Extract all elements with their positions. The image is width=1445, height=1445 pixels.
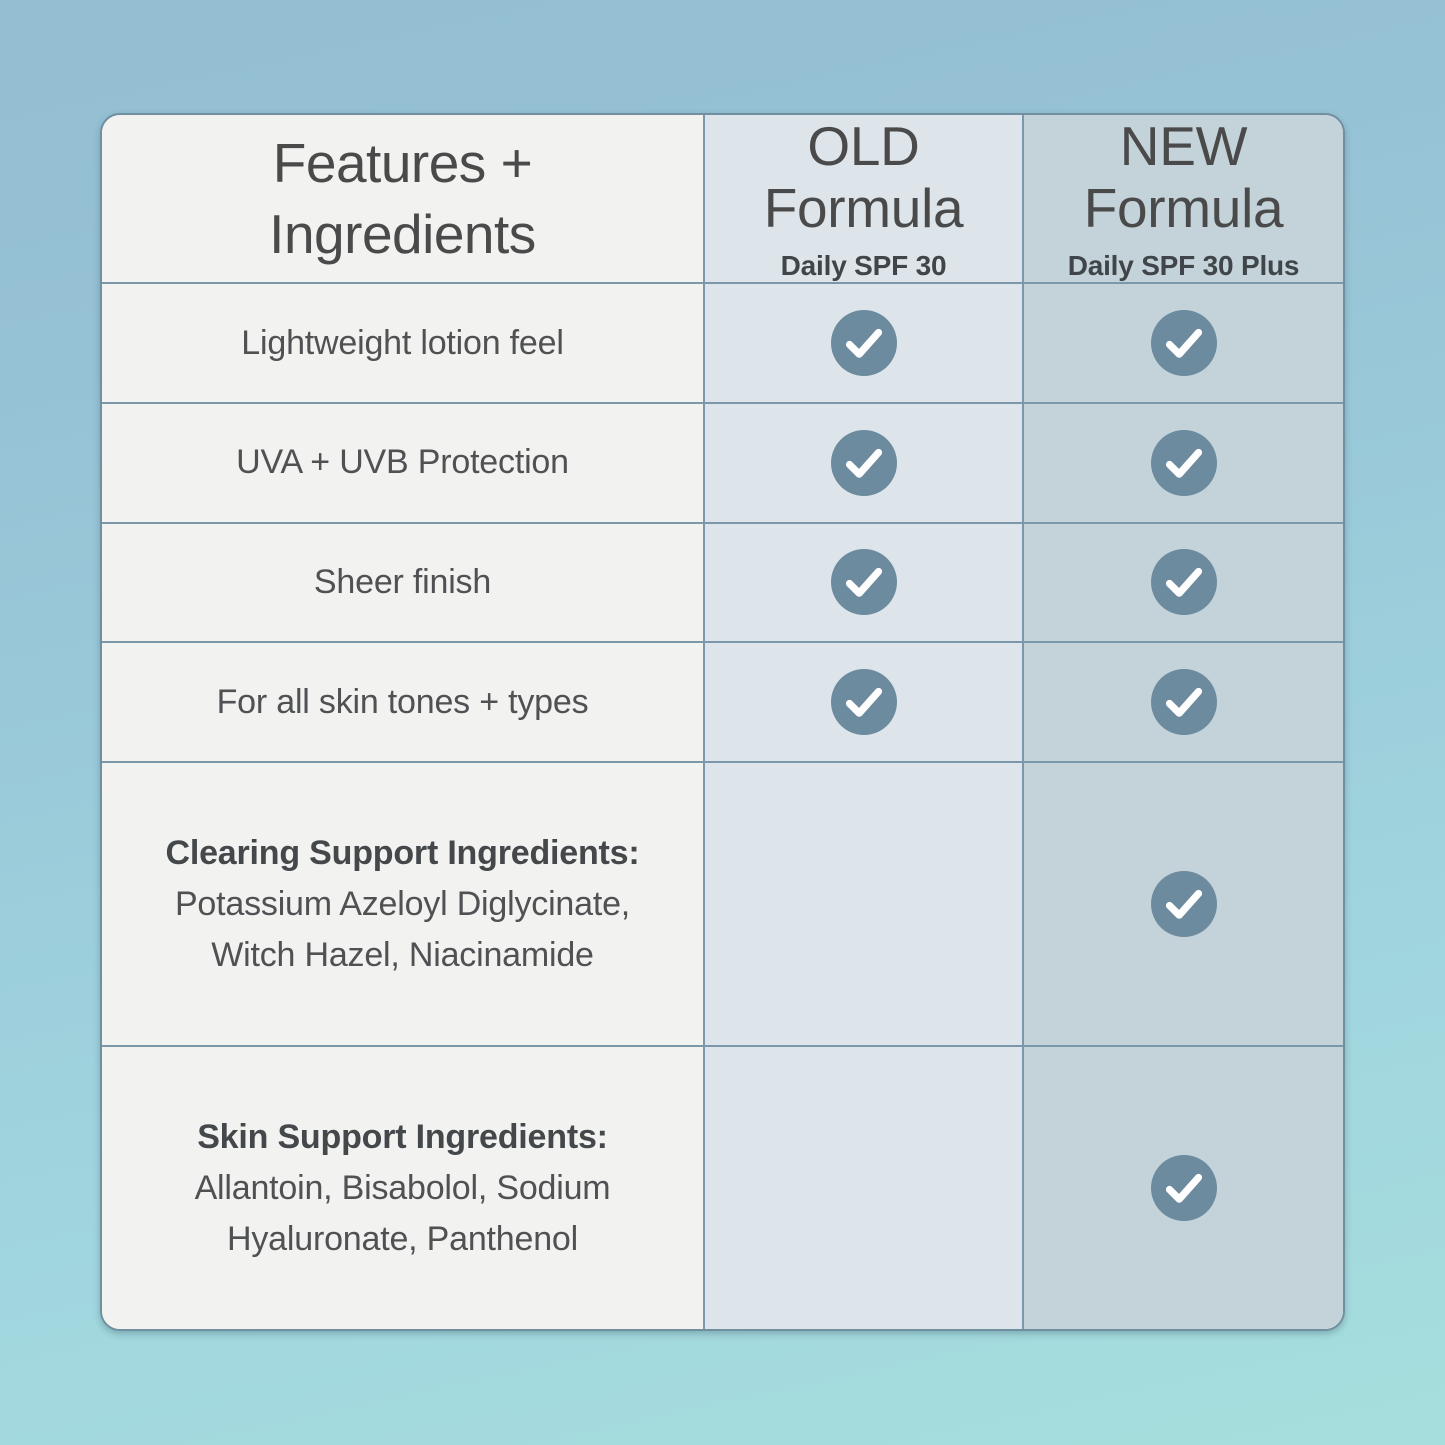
check-circle-icon — [1151, 669, 1217, 735]
old-formula-cell — [704, 283, 1023, 403]
table-body: Lightweight lotion feelUVA + UVB Protect… — [102, 283, 1343, 1329]
header-new-title-line2: Formula — [1038, 177, 1329, 239]
feature-label: Sheer finish — [314, 563, 491, 601]
feature-cell: For all skin tones + types — [102, 642, 704, 762]
header-features-line2: Ingredients — [269, 203, 536, 265]
feature-label: Lightweight lotion feel — [241, 324, 563, 362]
new-formula-cell — [1023, 762, 1343, 1046]
check-circle-icon — [831, 549, 897, 615]
new-formula-cell — [1023, 523, 1343, 643]
feature-label-bold: Skin Support Ingredients: — [197, 1118, 608, 1156]
table-row: Sheer finish — [102, 523, 1343, 643]
header-features-ingredients: Features + Ingredients — [102, 115, 704, 283]
old-formula-cell-empty — [704, 762, 1023, 1046]
check-circle-icon — [1151, 871, 1217, 937]
table-row: For all skin tones + types — [102, 642, 1343, 762]
header-old-formula: OLD Formula Daily SPF 30 — [704, 115, 1023, 283]
check-circle-icon — [831, 430, 897, 496]
old-formula-cell — [704, 523, 1023, 643]
header-old-title-line2: Formula — [719, 177, 1008, 239]
table-row: Lightweight lotion feel — [102, 283, 1343, 403]
feature-cell: UVA + UVB Protection — [102, 403, 704, 523]
check-circle-icon — [1151, 1155, 1217, 1221]
new-formula-cell — [1023, 283, 1343, 403]
feature-label-rest: Potassium Azeloyl Diglycinate, Witch Haz… — [175, 885, 630, 974]
feature-label: UVA + UVB Protection — [236, 443, 569, 481]
feature-label: For all skin tones + types — [217, 683, 589, 721]
header-new-title-line1: NEW — [1038, 115, 1329, 177]
feature-label-rest: Allantoin, Bisabolol, Sodium Hyaluronate… — [195, 1169, 611, 1258]
new-formula-cell — [1023, 642, 1343, 762]
feature-cell: Skin Support Ingredients: Allantoin, Bis… — [102, 1046, 704, 1329]
check-circle-icon — [831, 669, 897, 735]
header-old-title-line1: OLD — [719, 115, 1008, 177]
new-formula-cell — [1023, 1046, 1343, 1329]
header-row: Features + Ingredients OLD Formula Daily… — [102, 115, 1343, 283]
feature-cell: Sheer finish — [102, 523, 704, 643]
feature-cell: Clearing Support Ingredients: Potassium … — [102, 762, 704, 1046]
check-circle-icon — [1151, 430, 1217, 496]
check-circle-icon — [831, 310, 897, 376]
new-formula-cell — [1023, 403, 1343, 523]
table-row: Skin Support Ingredients: Allantoin, Bis… — [102, 1046, 1343, 1329]
check-circle-icon — [1151, 549, 1217, 615]
header-new-subtitle: Daily SPF 30 Plus — [1038, 250, 1329, 282]
header-features-line1: Features + — [273, 132, 532, 194]
check-circle-icon — [1151, 310, 1217, 376]
formula-comparison-table: Features + Ingredients OLD Formula Daily… — [102, 115, 1343, 1329]
feature-cell: Lightweight lotion feel — [102, 283, 704, 403]
old-formula-cell — [704, 403, 1023, 523]
table-row: UVA + UVB Protection — [102, 403, 1343, 523]
table-header: Features + Ingredients OLD Formula Daily… — [102, 115, 1343, 283]
old-formula-cell-empty — [704, 1046, 1023, 1329]
old-formula-cell — [704, 642, 1023, 762]
table-row: Clearing Support Ingredients: Potassium … — [102, 762, 1343, 1046]
header-old-subtitle: Daily SPF 30 — [719, 250, 1008, 282]
header-new-formula: NEW Formula Daily SPF 30 Plus — [1023, 115, 1343, 283]
feature-label-bold: Clearing Support Ingredients: — [165, 834, 639, 872]
comparison-table-container: Features + Ingredients OLD Formula Daily… — [100, 113, 1345, 1331]
